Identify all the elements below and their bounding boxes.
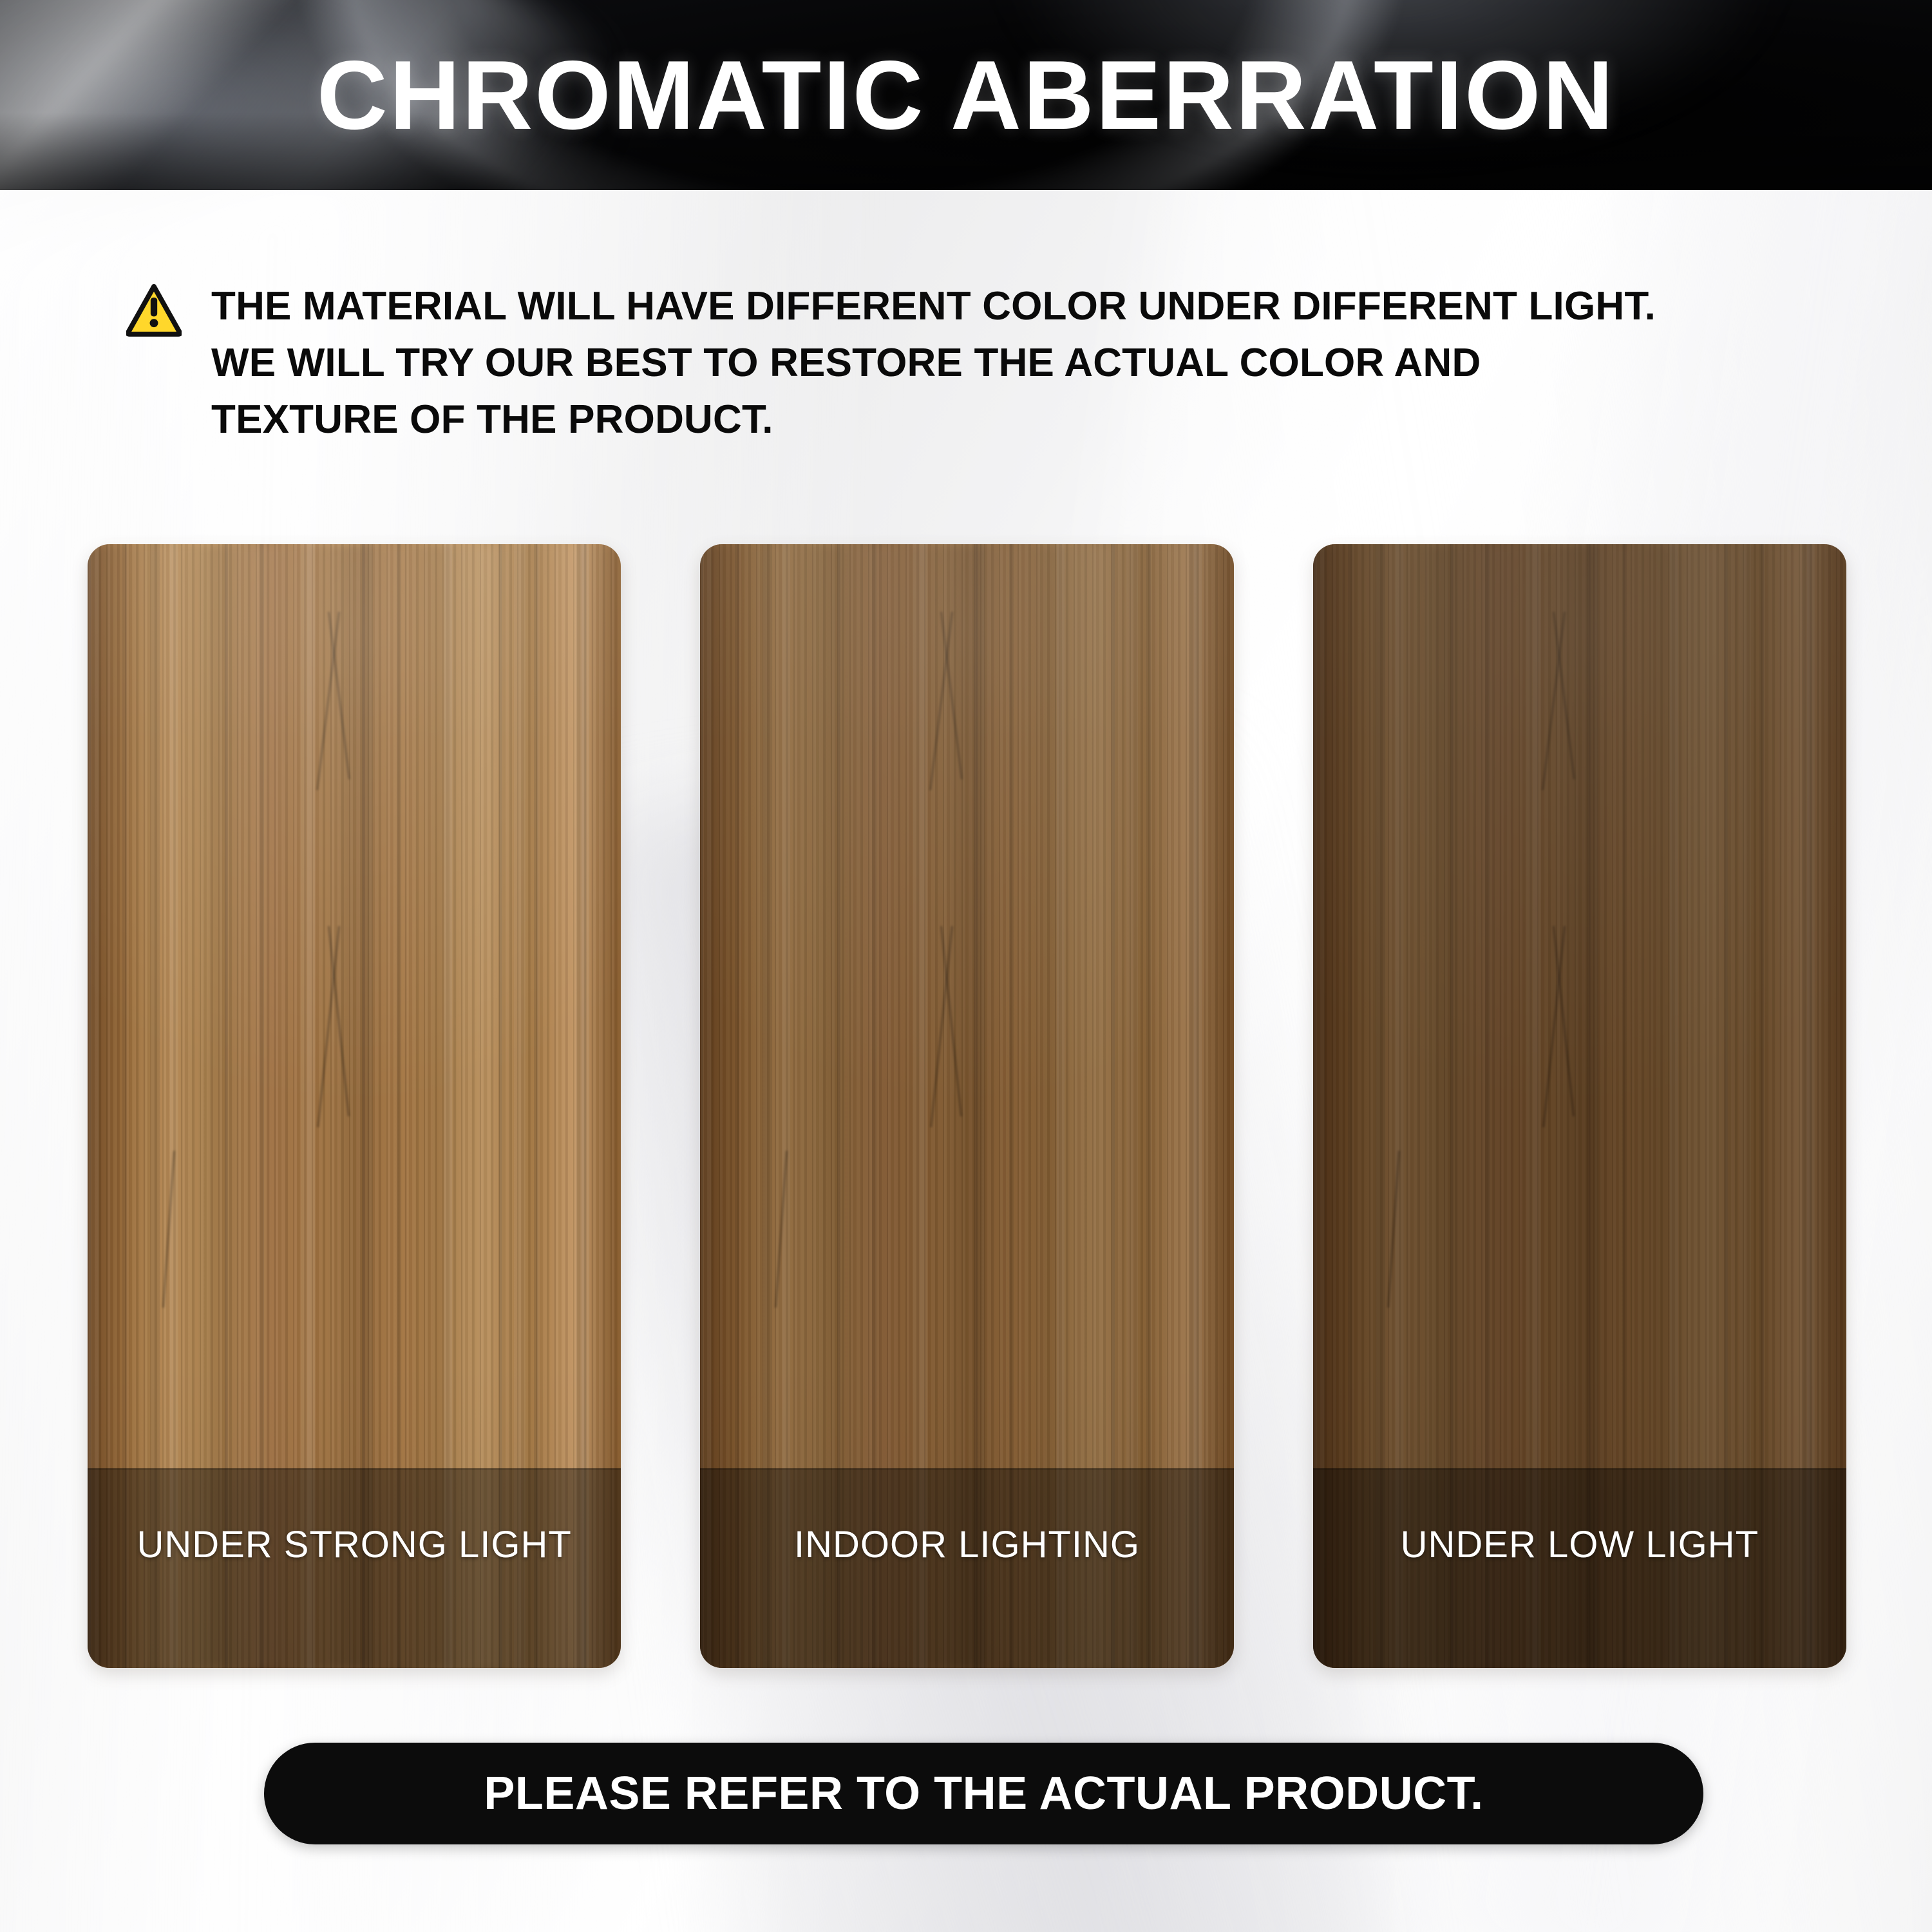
swatch-shadow-band <box>88 1468 621 1668</box>
swatch-panel-low-light[interactable]: UNDER LOW LIGHT <box>1313 544 1846 1668</box>
header-banner: CHROMATIC ABERRATION <box>0 0 1932 190</box>
warning-line-1: THE MATERIAL WILL HAVE DIFFERENT COLOR U… <box>211 278 1656 335</box>
refer-to-actual-product-label: PLEASE REFER TO THE ACTUAL PRODUCT. <box>484 1767 1483 1820</box>
swatch-shadow-band <box>1313 1468 1846 1668</box>
swatch-panel-strong-light[interactable]: UNDER STRONG LIGHT <box>88 544 621 1668</box>
swatch-label-low-light: UNDER LOW LIGHT <box>1313 1523 1846 1566</box>
swatch-panel-group: UNDER STRONG LIGHT INDOOR LIGHTING <box>88 544 1846 1668</box>
warning-notice-text: THE MATERIAL WILL HAVE DIFFERENT COLOR U… <box>211 278 1656 448</box>
warning-line-3: TEXTURE OF THE PRODUCT. <box>211 392 1656 448</box>
page-title: CHROMATIC ABERRATION <box>0 0 1932 190</box>
swatch-label-indoor-lighting: INDOOR LIGHTING <box>700 1523 1233 1566</box>
swatch-label-strong-light: UNDER STRONG LIGHT <box>88 1523 621 1566</box>
warning-notice: THE MATERIAL WILL HAVE DIFFERENT COLOR U… <box>126 278 1814 448</box>
warning-line-2: WE WILL TRY OUR BEST TO RESTORE THE ACTU… <box>211 335 1656 392</box>
swatch-panel-indoor-lighting[interactable]: INDOOR LIGHTING <box>700 544 1233 1668</box>
promo-page: CHROMATIC ABERRATION THE MATERIAL WILL H… <box>0 0 1932 1932</box>
warning-triangle-icon <box>126 282 182 337</box>
swatch-shadow-band <box>700 1468 1233 1668</box>
refer-to-actual-product-button[interactable]: PLEASE REFER TO THE ACTUAL PRODUCT. <box>264 1743 1703 1844</box>
